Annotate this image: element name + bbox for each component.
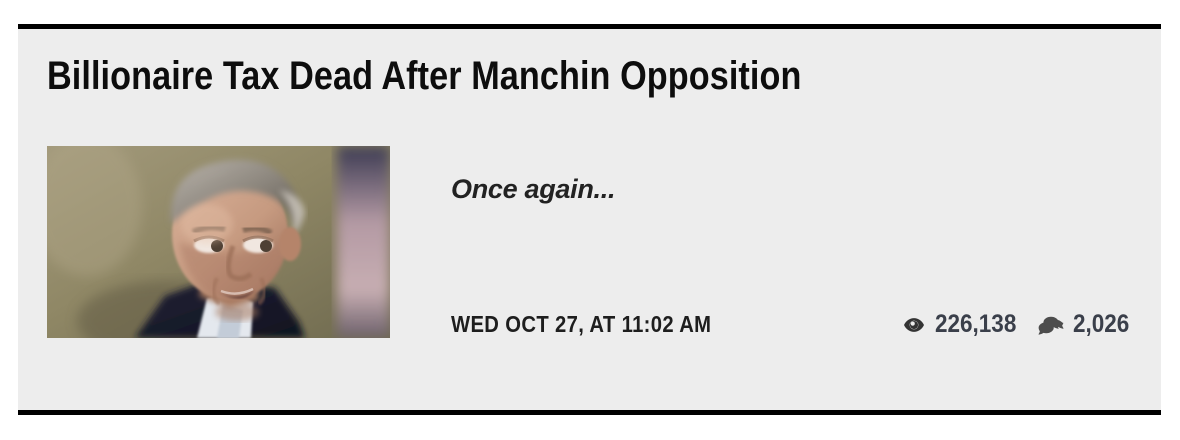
view-count-value: 226,138 (935, 311, 1016, 338)
timestamp: Wed Oct 27, at 11:02 AM (451, 311, 711, 338)
article-meta-row: Wed Oct 27, at 11:02 AM 226,138 (451, 308, 1136, 338)
comment-count-value: 2,026 (1073, 311, 1129, 338)
article-thumbnail[interactable] (47, 146, 390, 338)
eye-icon (900, 315, 928, 335)
comment-count[interactable]: 2,026 (1036, 311, 1136, 338)
comments-icon (1036, 314, 1066, 336)
page-title: Billionaire Tax Dead After Manchin Oppos… (47, 53, 970, 99)
article-card[interactable]: Billionaire Tax Dead After Manchin Oppos… (18, 24, 1161, 415)
article-dek: Once again... (451, 173, 615, 205)
view-count[interactable]: 226,138 (900, 311, 1025, 338)
article-text-column: Once again... Wed Oct 27, at 11:02 AM 22… (451, 146, 1136, 338)
article-stats: 226,138 2,026 (900, 311, 1136, 338)
card-body: Once again... Wed Oct 27, at 11:02 AM 22… (47, 146, 1136, 356)
